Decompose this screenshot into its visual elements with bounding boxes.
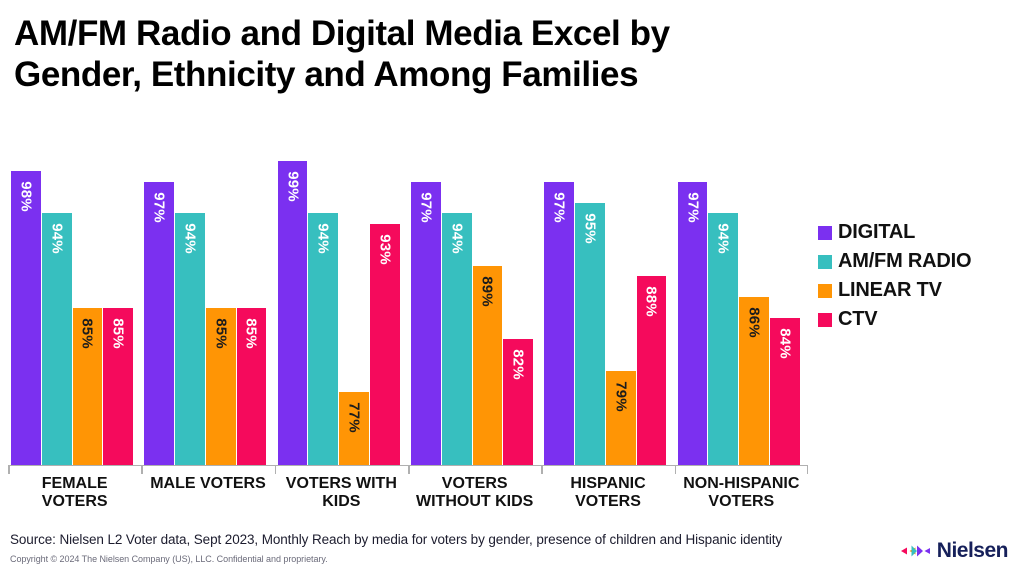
legend-swatch-icon [818,255,832,269]
bar-value-label: 85% [111,318,126,349]
axis-tick [675,466,677,474]
bar[interactable]: 98% [11,171,41,465]
x-axis-label: MALE VOTERS [141,475,274,493]
bar[interactable]: 85% [73,308,103,466]
axis-tick [541,466,543,474]
bar-value-label: 94% [716,223,731,254]
axis-tick [807,466,809,474]
legend-label: LINEAR TV [838,279,942,302]
bar-value-label: 88% [644,286,659,317]
bar-group: 98%94%85%85% [11,150,134,465]
footer: Source: Nielsen L2 Voter data, Sept 2023… [0,528,1024,575]
bar[interactable]: 94% [175,213,205,465]
x-axis-line [8,465,808,473]
axis-tick [408,466,410,474]
legend-label: CTV [838,308,877,331]
bar-value-label: 99% [285,171,300,202]
bar-value-label: 94% [49,223,64,254]
bar[interactable]: 94% [708,213,738,465]
nielsen-logo-mark [901,543,931,559]
x-axis-label: VOTERS WITHOUT KIDS [408,475,541,512]
legend-swatch-icon [818,313,832,327]
source-note: Source: Nielsen L2 Voter data, Sept 2023… [10,532,782,547]
x-axis-label: NON-HISPANIC VOTERS [675,475,808,512]
bar-value-label: 77% [347,402,362,433]
bar[interactable]: 85% [237,308,267,466]
bar-group: 97%95%79%88% [544,150,667,465]
bar-value-label: 85% [244,318,259,349]
bar[interactable]: 94% [42,213,72,465]
bar[interactable]: 97% [144,182,174,466]
bar-value-label: 94% [449,223,464,254]
bar-value-label: 93% [377,234,392,265]
bar-value-label: 85% [213,318,228,349]
bar[interactable]: 88% [637,276,667,465]
bar-value-label: 97% [685,192,700,223]
bar-value-label: 84% [777,328,792,359]
axis-tick [141,466,143,474]
legend-item[interactable]: AM/FM RADIO [818,247,1018,276]
bar-group: 97%94%86%84% [678,150,801,465]
x-axis-label: FEMALE VOTERS [8,475,141,512]
bar[interactable]: 77% [339,392,369,466]
x-axis-category-labels: FEMALE VOTERSMALE VOTERSVOTERS WITH KIDS… [8,475,808,535]
bar-value-label: 97% [552,192,567,223]
legend-item[interactable]: DIGITAL [818,218,1018,247]
bar[interactable]: 82% [503,339,533,465]
bar[interactable]: 97% [544,182,574,466]
bar[interactable]: 86% [739,297,769,465]
bar[interactable]: 97% [678,182,708,466]
bar[interactable]: 89% [473,266,503,466]
bar-value-label: 79% [613,381,628,412]
bar-value-label: 97% [418,192,433,223]
legend-label: AM/FM RADIO [838,250,971,273]
bar[interactable]: 94% [442,213,472,465]
nielsen-logo: Nielsen [901,540,1008,561]
plot-area: 98%94%85%85%97%94%85%85%99%94%77%93%97%9… [8,150,808,465]
bar-group: 97%94%85%85% [144,150,267,465]
bar[interactable]: 94% [308,213,338,465]
bar-group: 99%94%77%93% [278,150,401,465]
legend-label: DIGITAL [838,221,915,244]
bar[interactable]: 84% [770,318,800,465]
legend-item[interactable]: CTV [818,305,1018,334]
bar-value-label: 94% [316,223,331,254]
legend-swatch-icon [818,284,832,298]
bar[interactable]: 99% [278,161,308,466]
bar[interactable]: 85% [103,308,133,466]
bar[interactable]: 95% [575,203,605,466]
bar-value-label: 89% [480,276,495,307]
bar-value-label: 82% [511,349,526,380]
x-axis-label: HISPANIC VOTERS [541,475,674,512]
copyright-note: Copyright © 2024 The Nielsen Company (US… [10,554,328,564]
bar-value-label: 86% [747,307,762,338]
legend-swatch-icon [818,226,832,240]
axis-tick [8,466,10,474]
x-axis-label: VOTERS WITH KIDS [275,475,408,512]
legend-item[interactable]: LINEAR TV [818,276,1018,305]
bar-group: 97%94%89%82% [411,150,534,465]
bar-value-label: 98% [18,181,33,212]
chart-legend: DIGITALAM/FM RADIOLINEAR TVCTV [818,218,1018,334]
bar[interactable]: 85% [206,308,236,466]
bar-value-label: 85% [80,318,95,349]
bar[interactable]: 93% [370,224,400,466]
bar-value-label: 94% [182,223,197,254]
bar[interactable]: 97% [411,182,441,466]
bar[interactable]: 79% [606,371,636,466]
page-title: AM/FM Radio and Digital Media Excel by G… [14,14,914,96]
bar-value-label: 97% [152,192,167,223]
bar-value-label: 95% [582,213,597,244]
axis-tick [275,466,277,474]
nielsen-wordmark: Nielsen [937,540,1008,561]
